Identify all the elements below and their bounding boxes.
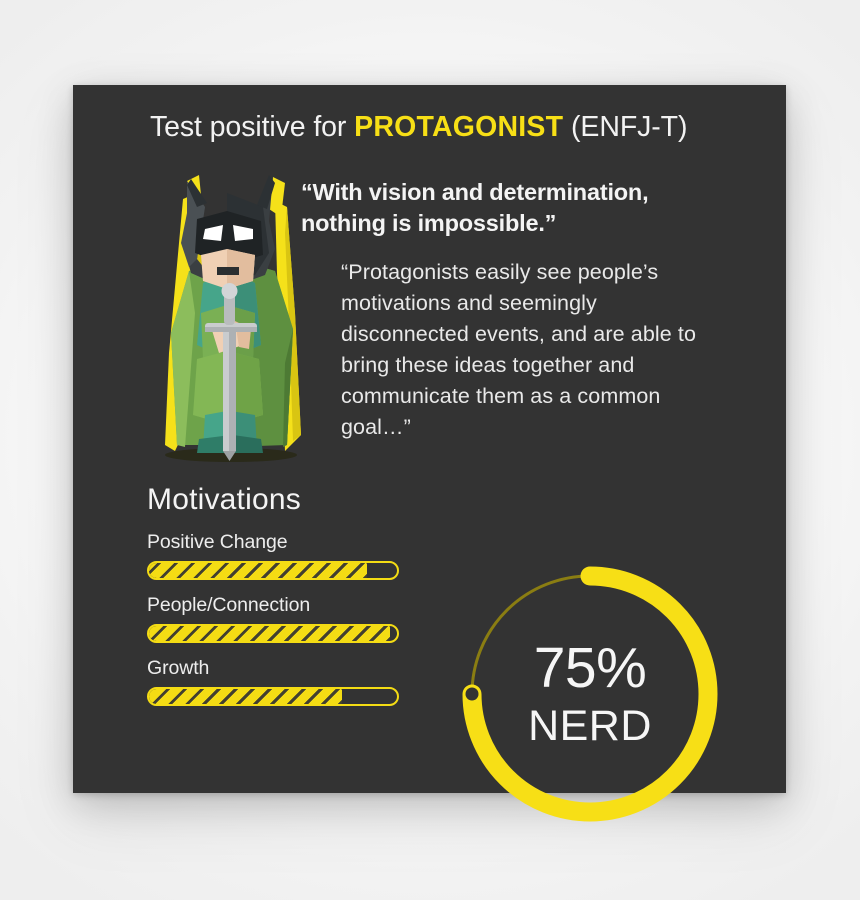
motivation-progress-bar: [147, 561, 399, 580]
protagonist-knight-character-icon: [135, 163, 321, 463]
motivation-item-positive-change: Positive Change: [147, 531, 403, 580]
personality-result-card: Test positive for PROTAGONIST (ENFJ-T): [73, 85, 786, 793]
motivation-progress-fill: [149, 689, 342, 704]
donut-track: [472, 576, 590, 694]
motivation-label: Positive Change: [147, 531, 403, 554]
page-background: Test positive for PROTAGONIST (ENFJ-T): [0, 0, 860, 900]
lower-section: Motivations Positive Change People/Conne…: [73, 485, 786, 793]
motivation-progress-fill: [149, 563, 367, 578]
motivation-item-people-connection: People/Connection: [147, 594, 403, 643]
motivations-title: Motivations: [147, 485, 403, 515]
headline-prefix: Test positive for: [150, 111, 354, 143]
pull-quote: “With vision and determination, nothing …: [301, 177, 731, 239]
body-quote: “Protagonists easily see people’s motiva…: [341, 257, 716, 443]
donut-endpoint-dot: [466, 688, 479, 701]
motivation-progress-bar: [147, 624, 399, 643]
page-title: Test positive for PROTAGONIST (ENFJ-T): [150, 111, 687, 144]
hero-section: “With vision and determination, nothing …: [73, 163, 786, 463]
headline-type-name: PROTAGONIST: [354, 111, 563, 143]
headline-suffix: (ENFJ-T): [563, 111, 687, 143]
motivations-panel: Motivations Positive Change People/Conne…: [147, 485, 403, 720]
nerd-percentage-donut-chart: 75% NERD: [453, 557, 727, 831]
motivation-progress-bar: [147, 687, 399, 706]
motivation-item-growth: Growth: [147, 657, 403, 706]
motivation-progress-fill: [149, 626, 390, 641]
motivation-label: People/Connection: [147, 594, 403, 617]
quote-block: “With vision and determination, nothing …: [301, 177, 731, 443]
motivation-label: Growth: [147, 657, 403, 680]
